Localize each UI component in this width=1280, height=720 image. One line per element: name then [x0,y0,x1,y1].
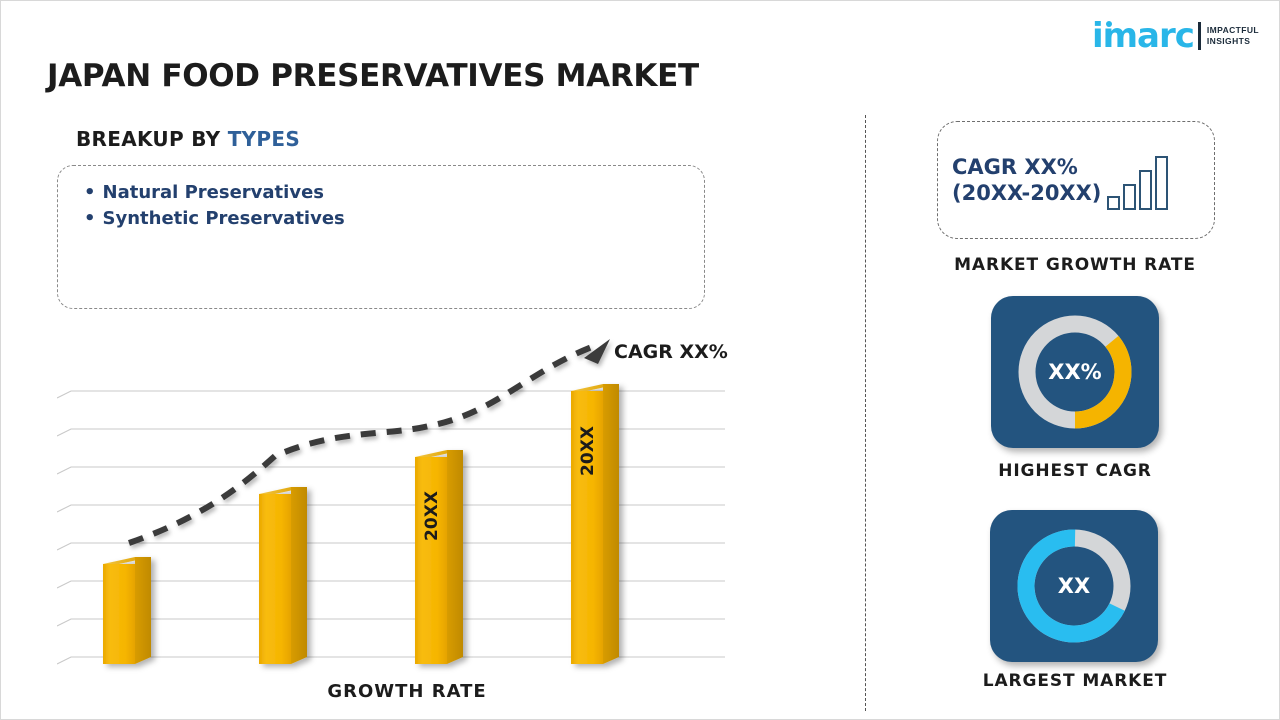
market-growth-rate-caption: MARKET GROWTH RATE [875,255,1275,275]
breakup-types-box: Natural Preservatives Synthetic Preserva… [57,165,705,309]
cagr-value: CAGR XX% [952,154,1101,180]
market-growth-rate-box: CAGR XX% (20XX-20XX) [937,121,1215,239]
subtitle-prefix: BREAKUP BY [76,127,228,151]
list-item: Synthetic Preservatives [84,206,678,232]
breakup-list: Natural Preservatives Synthetic Preserva… [84,180,678,231]
highest-cagr-value: XX% [991,360,1159,384]
chart-cagr-annotation: CAGR XX% [614,341,728,363]
subtitle-highlight: TYPES [228,127,300,151]
largest-market-value: XX [990,574,1158,598]
logo-dot-icon [1106,21,1112,27]
cagr-text-block: CAGR XX% (20XX-20XX) [952,154,1101,207]
chart-trendline [129,339,610,543]
logo-divider-bar [1198,22,1201,50]
section-subtitle: BREAKUP BY TYPES [76,127,300,151]
list-item: Natural Preservatives [84,180,678,206]
chart-svg: 20XX 20XX [57,331,757,681]
logo-tagline: IMPACTFUL INSIGHTS [1207,25,1259,48]
largest-market-card: XX [990,510,1158,662]
highest-cagr-caption: HIGHEST CAGR [875,461,1275,481]
logo-tagline-line2: INSIGHTS [1207,36,1259,47]
page-title: JAPAN FOOD PRESERVATIVES MARKET [47,58,699,94]
largest-market-caption: LARGEST MARKET [875,671,1275,691]
growth-rate-chart: 20XX 20XX CAGR XX% GROWTH RATE [57,331,757,720]
chart-bar-4: 20XX [571,384,619,664]
chart-bar-2 [259,487,307,664]
cagr-period: (20XX-20XX) [952,180,1101,206]
imarc-logo: imarc IMPACTFUL INSIGHTS [1092,15,1259,57]
highest-cagr-card: XX% [991,296,1159,448]
chart-bar-3: 20XX [415,450,463,664]
bar-label: 20XX [422,491,442,541]
chart-bar-1 [103,557,151,664]
bar-label: 20XX [578,426,598,476]
infographic-page: imarc IMPACTFUL INSIGHTS JAPAN FOOD PRES… [0,0,1280,720]
vertical-divider [865,115,866,711]
chart-x-axis-label: GROWTH RATE [57,681,757,702]
bar-chart-icon [1107,150,1168,210]
logo-tagline-line1: IMPACTFUL [1207,25,1259,36]
